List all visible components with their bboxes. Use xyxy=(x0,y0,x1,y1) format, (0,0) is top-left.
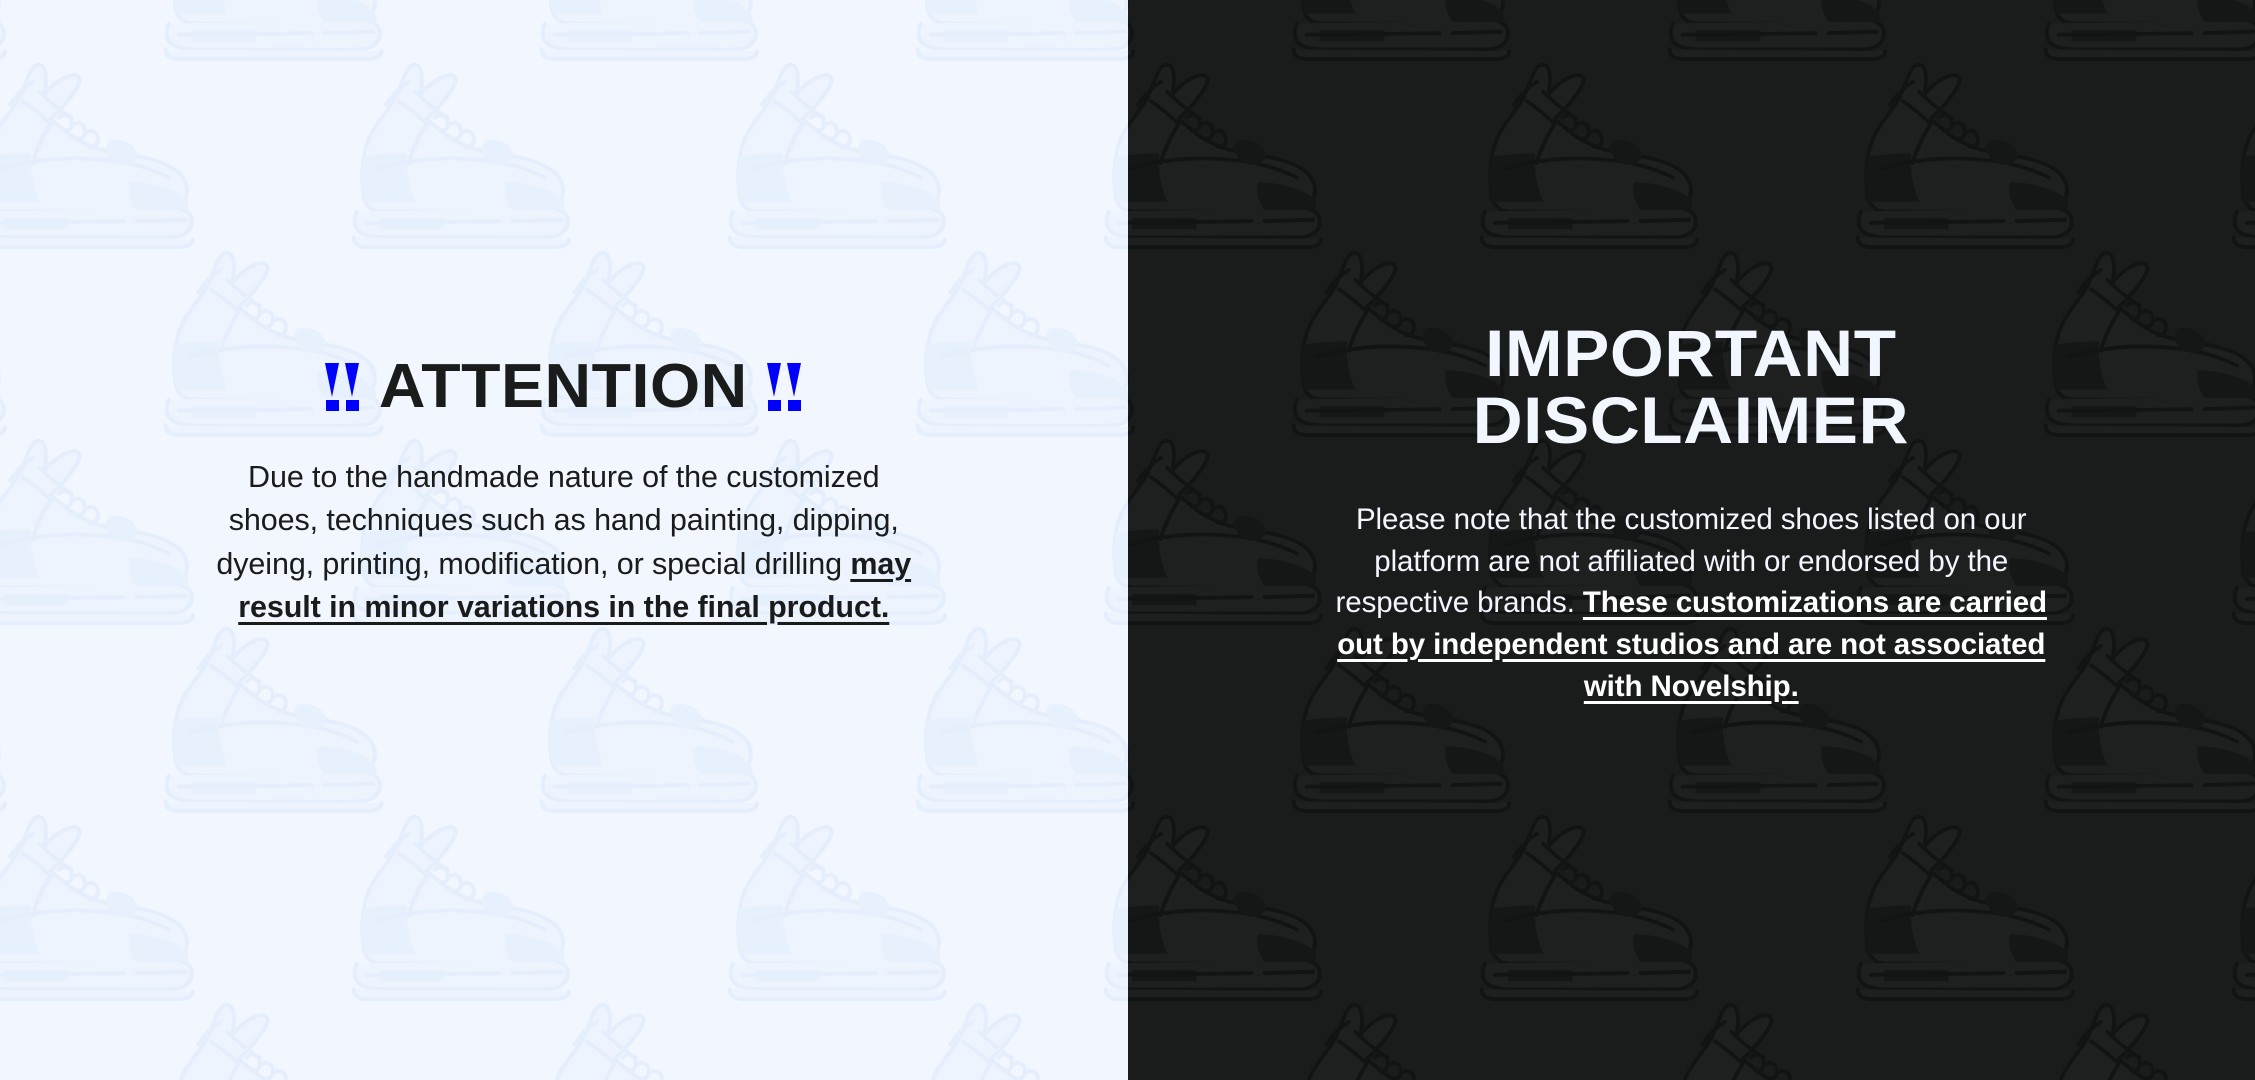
attention-panel: ATTENTION Due to the handmade nature of … xyxy=(0,0,1128,1080)
attention-heading: ATTENTION xyxy=(325,356,802,418)
double-exclamation-icon-left xyxy=(325,363,360,411)
disclaimer-heading-line2: DISCLAIMER xyxy=(1473,387,1909,454)
disclaimer-heading-line1: IMPORTANT xyxy=(1473,320,1909,387)
disclaimer-banner: ATTENTION Due to the handmade nature of … xyxy=(0,0,2255,1080)
attention-heading-text: ATTENTION xyxy=(379,356,748,418)
disclaimer-body-text: Please note that the customized shoes li… xyxy=(1331,499,2051,708)
attention-body-text: Due to the handmade nature of the custom… xyxy=(214,456,914,629)
double-exclamation-icon-right xyxy=(767,363,802,411)
disclaimer-panel: IMPORTANT DISCLAIMER Please note that th… xyxy=(1128,0,2255,1080)
attention-body-normal: Due to the handmade nature of the custom… xyxy=(216,460,898,581)
disclaimer-heading: IMPORTANT DISCLAIMER xyxy=(1483,320,1899,455)
